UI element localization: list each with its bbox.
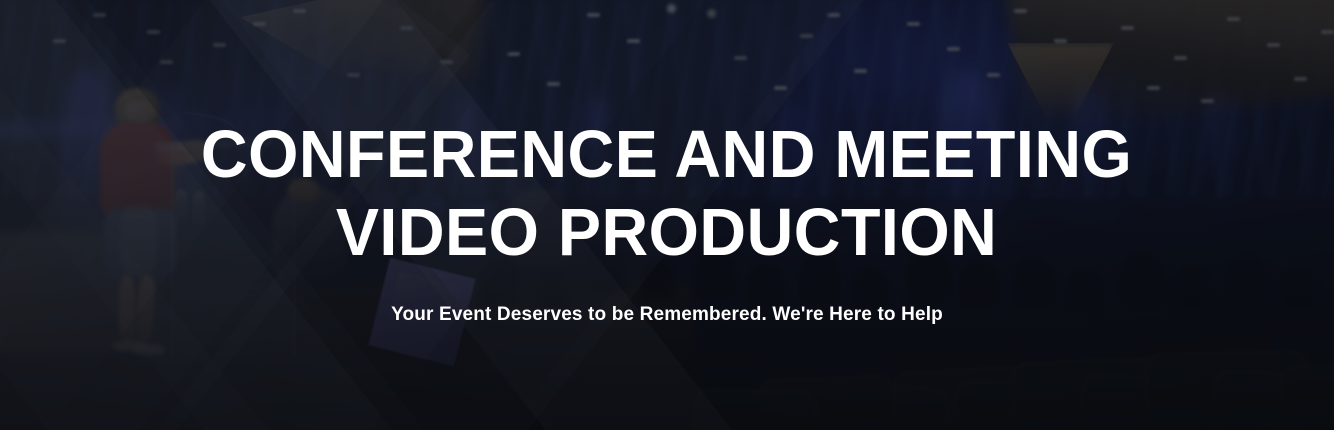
page-subtitle: Your Event Deserves to be Remembered. We… xyxy=(391,302,943,328)
page-title-line-1: CONFERENCE AND MEETING xyxy=(201,116,1132,194)
page-title: CONFERENCE AND MEETING VIDEO PRODUCTION xyxy=(201,116,1132,272)
hero-banner: CONFERENCE AND MEETING VIDEO PRODUCTION … xyxy=(0,0,1334,430)
page-title-line-2: VIDEO PRODUCTION xyxy=(201,194,1132,272)
hero-content: CONFERENCE AND MEETING VIDEO PRODUCTION … xyxy=(0,0,1334,430)
